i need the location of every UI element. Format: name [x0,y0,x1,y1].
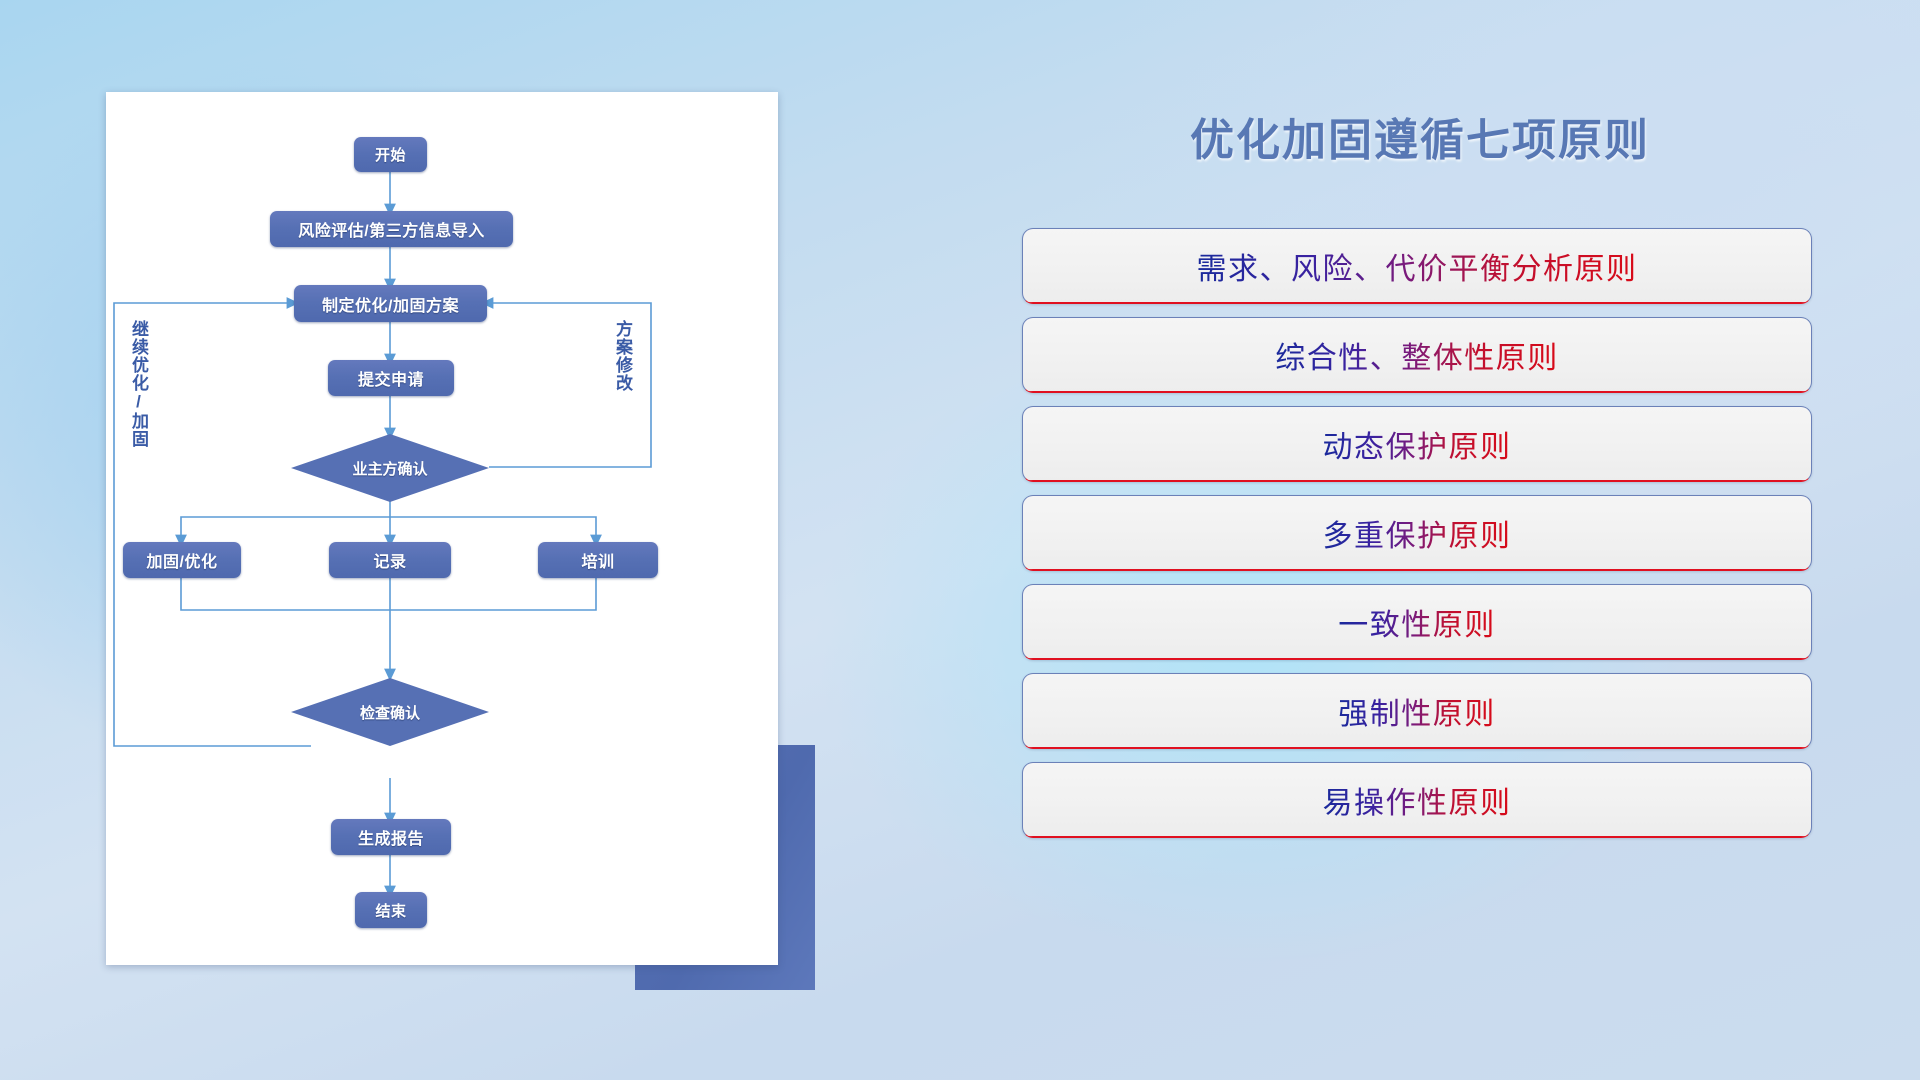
flow-edge-label-continue-optimize: 继续优化/加固 [130,320,147,448]
principle-item[interactable]: 综合性、整体性原则 [1022,317,1812,393]
principle-item[interactable]: 需求、风险、代价平衡分析原则 [1022,228,1812,304]
flow-node-risk-assessment[interactable]: 风险评估/第三方信息导入 [270,211,513,247]
flow-decision-check-confirm-label: 检查确认 [360,702,420,723]
flowchart-card: 开始 风险评估/第三方信息导入 制定优化/加固方案 提交申请 业主方确认 加固/… [106,92,778,965]
flow-node-record[interactable]: 记录 [329,542,451,578]
flow-node-make-plan[interactable]: 制定优化/加固方案 [294,285,487,322]
principle-item-label: 综合性、整体性原则 [1275,333,1559,377]
principle-item[interactable]: 一致性原则 [1022,584,1812,660]
principles-list: 需求、风险、代价平衡分析原则 综合性、整体性原则 动态保护原则 多重保护原则 一… [1022,228,1812,851]
principle-item[interactable]: 强制性原则 [1022,673,1812,749]
principle-item[interactable]: 多重保护原则 [1022,495,1812,571]
flow-node-training[interactable]: 培训 [538,542,658,578]
principle-item[interactable]: 易操作性原则 [1022,762,1812,838]
principle-item-label: 需求、风险、代价平衡分析原则 [1197,244,1638,288]
flow-node-start-label: 开始 [375,144,406,165]
flow-edge-label-plan-revision: 方案修改 [614,320,631,392]
flow-node-risk-assessment-label: 风险评估/第三方信息导入 [298,217,484,241]
flow-node-reinforce-optimize-label: 加固/优化 [147,548,218,572]
principle-item-label: 一致性原则 [1338,600,1496,644]
flow-node-generate-report-label: 生成报告 [358,825,424,849]
flow-decision-owner-confirm-label: 业主方确认 [352,458,427,479]
flow-decision-check-confirm[interactable]: 检查确认 [291,678,489,746]
flow-node-end-label: 结束 [375,900,406,921]
flow-node-make-plan-label: 制定优化/加固方案 [322,292,459,316]
flow-node-training-label: 培训 [581,548,614,572]
principle-item-label: 动态保护原则 [1323,422,1512,466]
slide-canvas: 开始 风险评估/第三方信息导入 制定优化/加固方案 提交申请 业主方确认 加固/… [0,0,1920,1080]
flow-node-generate-report[interactable]: 生成报告 [331,819,451,855]
flow-node-submit-application-label: 提交申请 [358,366,424,390]
flow-node-start[interactable]: 开始 [354,137,427,172]
panel-title: 优化加固遵循七项原则 [1020,104,1820,168]
principle-item[interactable]: 动态保护原则 [1022,406,1812,482]
principle-item-label: 易操作性原则 [1323,778,1512,822]
flow-decision-owner-confirm[interactable]: 业主方确认 [291,434,489,502]
principle-item-label: 多重保护原则 [1323,511,1512,555]
flow-node-end[interactable]: 结束 [355,892,427,928]
flow-node-record-label: 记录 [373,548,406,572]
flow-node-submit-application[interactable]: 提交申请 [328,360,454,396]
flow-node-reinforce-optimize[interactable]: 加固/优化 [123,542,241,578]
principle-item-label: 强制性原则 [1338,689,1496,733]
